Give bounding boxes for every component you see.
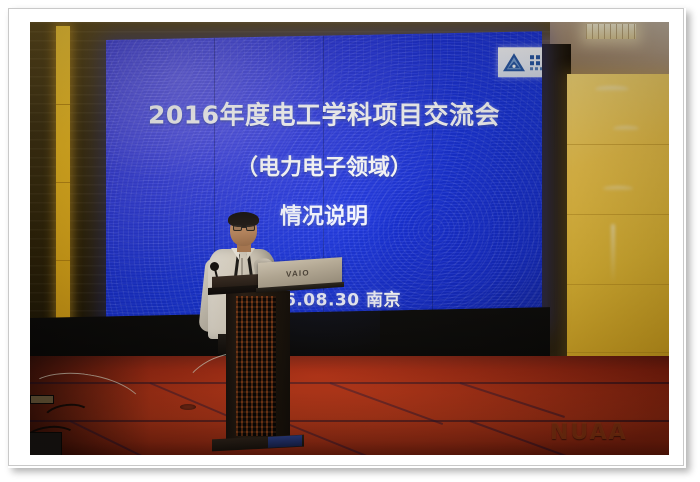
eyeglasses-icon <box>233 225 257 231</box>
triangle-logo-icon <box>502 52 526 72</box>
lectern <box>198 274 310 455</box>
slide-title-line3: 情况说明 <box>106 199 542 231</box>
photo-watermark: NUAA <box>550 420 628 445</box>
photo-frame: 2016年度电工学科项目交流会 （电力电子领域） 情况说明 2016.08.30… <box>0 0 700 482</box>
lectern-base-shadow <box>268 435 302 448</box>
presenter-laptop: VAIO <box>258 260 344 294</box>
microphone-icon <box>210 262 219 271</box>
laptop-brand-label: VAIO <box>286 268 310 279</box>
floor-junction-box <box>30 432 62 455</box>
lectern-front-panel <box>236 296 276 436</box>
floor-plate <box>30 395 54 404</box>
slide-title-line1: 2016年度电工学科项目交流会 <box>106 96 542 132</box>
organization-logo-plaque <box>498 47 542 77</box>
slide-title-line2: （电力电子领域） <box>106 150 542 182</box>
conference-photograph: 2016年度电工学科项目交流会 （电力电子领域） 情况说明 2016.08.30… <box>30 22 669 455</box>
logo-wordmark <box>530 55 542 70</box>
ceiling-light-icon <box>586 24 636 39</box>
